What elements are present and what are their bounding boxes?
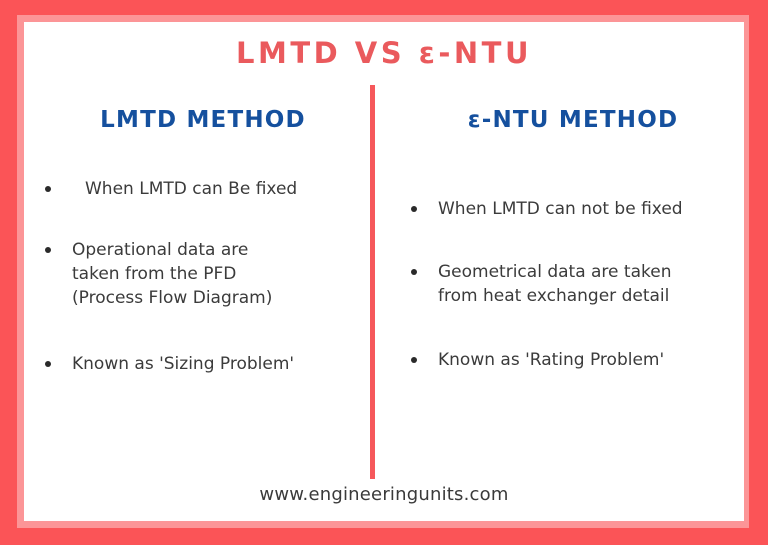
column-entu: ε-NTU METHOD When LMTD can not be fixed … (372, 80, 744, 473)
bullet-dot-icon (45, 247, 51, 253)
column-lmtd-bullet-list: When LMTD can Be fixed Operational data … (42, 177, 364, 376)
list-item: Known as 'Rating Problem' (408, 348, 734, 372)
list-item: Known as 'Sizing Problem' (42, 352, 364, 376)
poster-frame: LMTD VS ε-NTU LMTD METHOD When LMTD can … (0, 0, 768, 545)
list-item-text: Known as 'Rating Problem' (438, 348, 734, 372)
bullet-dot-icon (411, 357, 417, 363)
column-divider (370, 85, 375, 479)
column-lmtd-heading: LMTD METHOD (42, 107, 364, 133)
bullet-dot-icon (45, 361, 51, 367)
list-item: When LMTD can Be fixed (42, 177, 364, 201)
list-item: Geometrical data are taken from heat exc… (408, 260, 734, 308)
footer-website-url: www.engineeringunits.com (24, 484, 744, 505)
bullet-dot-icon (411, 206, 417, 212)
list-item-text: When LMTD can not be fixed (438, 197, 734, 221)
column-entu-bullet-list: When LMTD can not be fixed Geometrical d… (408, 197, 734, 373)
bullet-dot-icon (411, 269, 417, 275)
page-title: LMTD VS ε-NTU (24, 36, 744, 70)
list-item: Operational data are taken from the PFD … (42, 238, 364, 310)
bullet-dot-icon (45, 186, 51, 192)
list-item-text: Geometrical data are taken from heat exc… (438, 260, 734, 308)
column-lmtd: LMTD METHOD When LMTD can Be fixed Opera… (24, 80, 372, 473)
column-entu-heading: ε-NTU METHOD (408, 107, 734, 133)
comparison-columns: LMTD METHOD When LMTD can Be fixed Opera… (24, 80, 744, 473)
list-item-text: When LMTD can Be fixed (72, 177, 364, 201)
list-item-text: Operational data are taken from the PFD … (72, 238, 364, 310)
list-item-text: Known as 'Sizing Problem' (72, 352, 364, 376)
list-item: When LMTD can not be fixed (408, 197, 734, 221)
poster-card: LMTD VS ε-NTU LMTD METHOD When LMTD can … (24, 22, 744, 521)
